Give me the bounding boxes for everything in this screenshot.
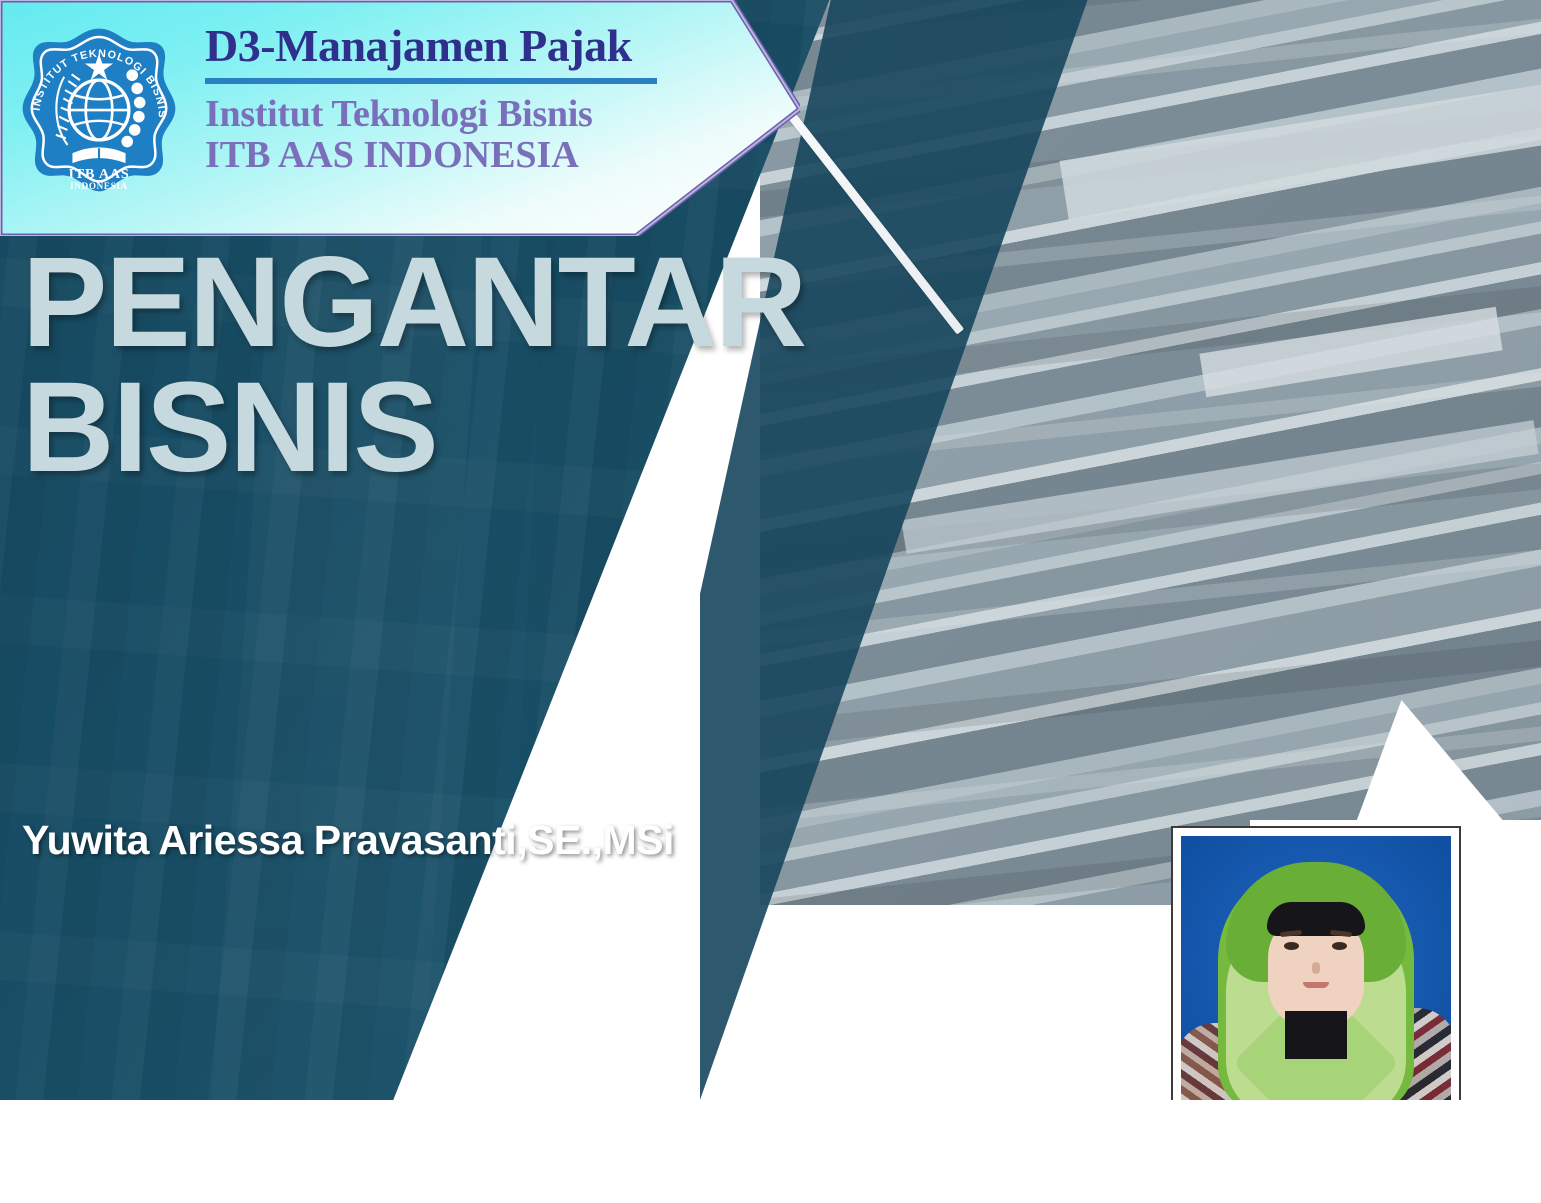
logo-name-line2: INDONESIA	[70, 181, 128, 191]
presentation-slide: INSTITUT TEKNOLOGI BISNIS AAS INDONESIA	[0, 0, 1541, 1203]
author-name: Yuwita Ariessa Pravasanti,SE.,MSi	[22, 817, 674, 864]
page-title: PENGANTAR BISNIS	[22, 240, 922, 491]
program-title: D3-Manajamen Pajak	[205, 22, 705, 70]
portrait-nose	[1312, 962, 1320, 974]
logo-name-line1: ITB AAS	[68, 166, 129, 182]
institution-name-line2: ITB AAS INDONESIA	[205, 135, 705, 176]
header-text-block: D3-Manajamen Pajak Institut Teknologi Bi…	[205, 22, 705, 176]
header-divider-rule	[205, 78, 657, 84]
institution-name-line1: Institut Teknologi Bisnis	[205, 94, 705, 135]
itb-aas-logo: INSTITUT TEKNOLOGI BISNIS AAS INDONESIA	[16, 20, 182, 210]
portrait-eye-left	[1284, 942, 1299, 950]
slide-bottom-margin	[0, 1100, 1541, 1203]
title-line-2: BISNIS	[22, 365, 922, 490]
itb-aas-emblem-icon: INSTITUT TEKNOLOGI BISNIS AAS INDONESIA	[16, 20, 182, 210]
portrait-eye-right	[1332, 942, 1347, 950]
title-line-1: PENGANTAR	[22, 240, 922, 365]
portrait-neck	[1285, 1011, 1347, 1059]
portrait-mouth	[1303, 982, 1329, 988]
